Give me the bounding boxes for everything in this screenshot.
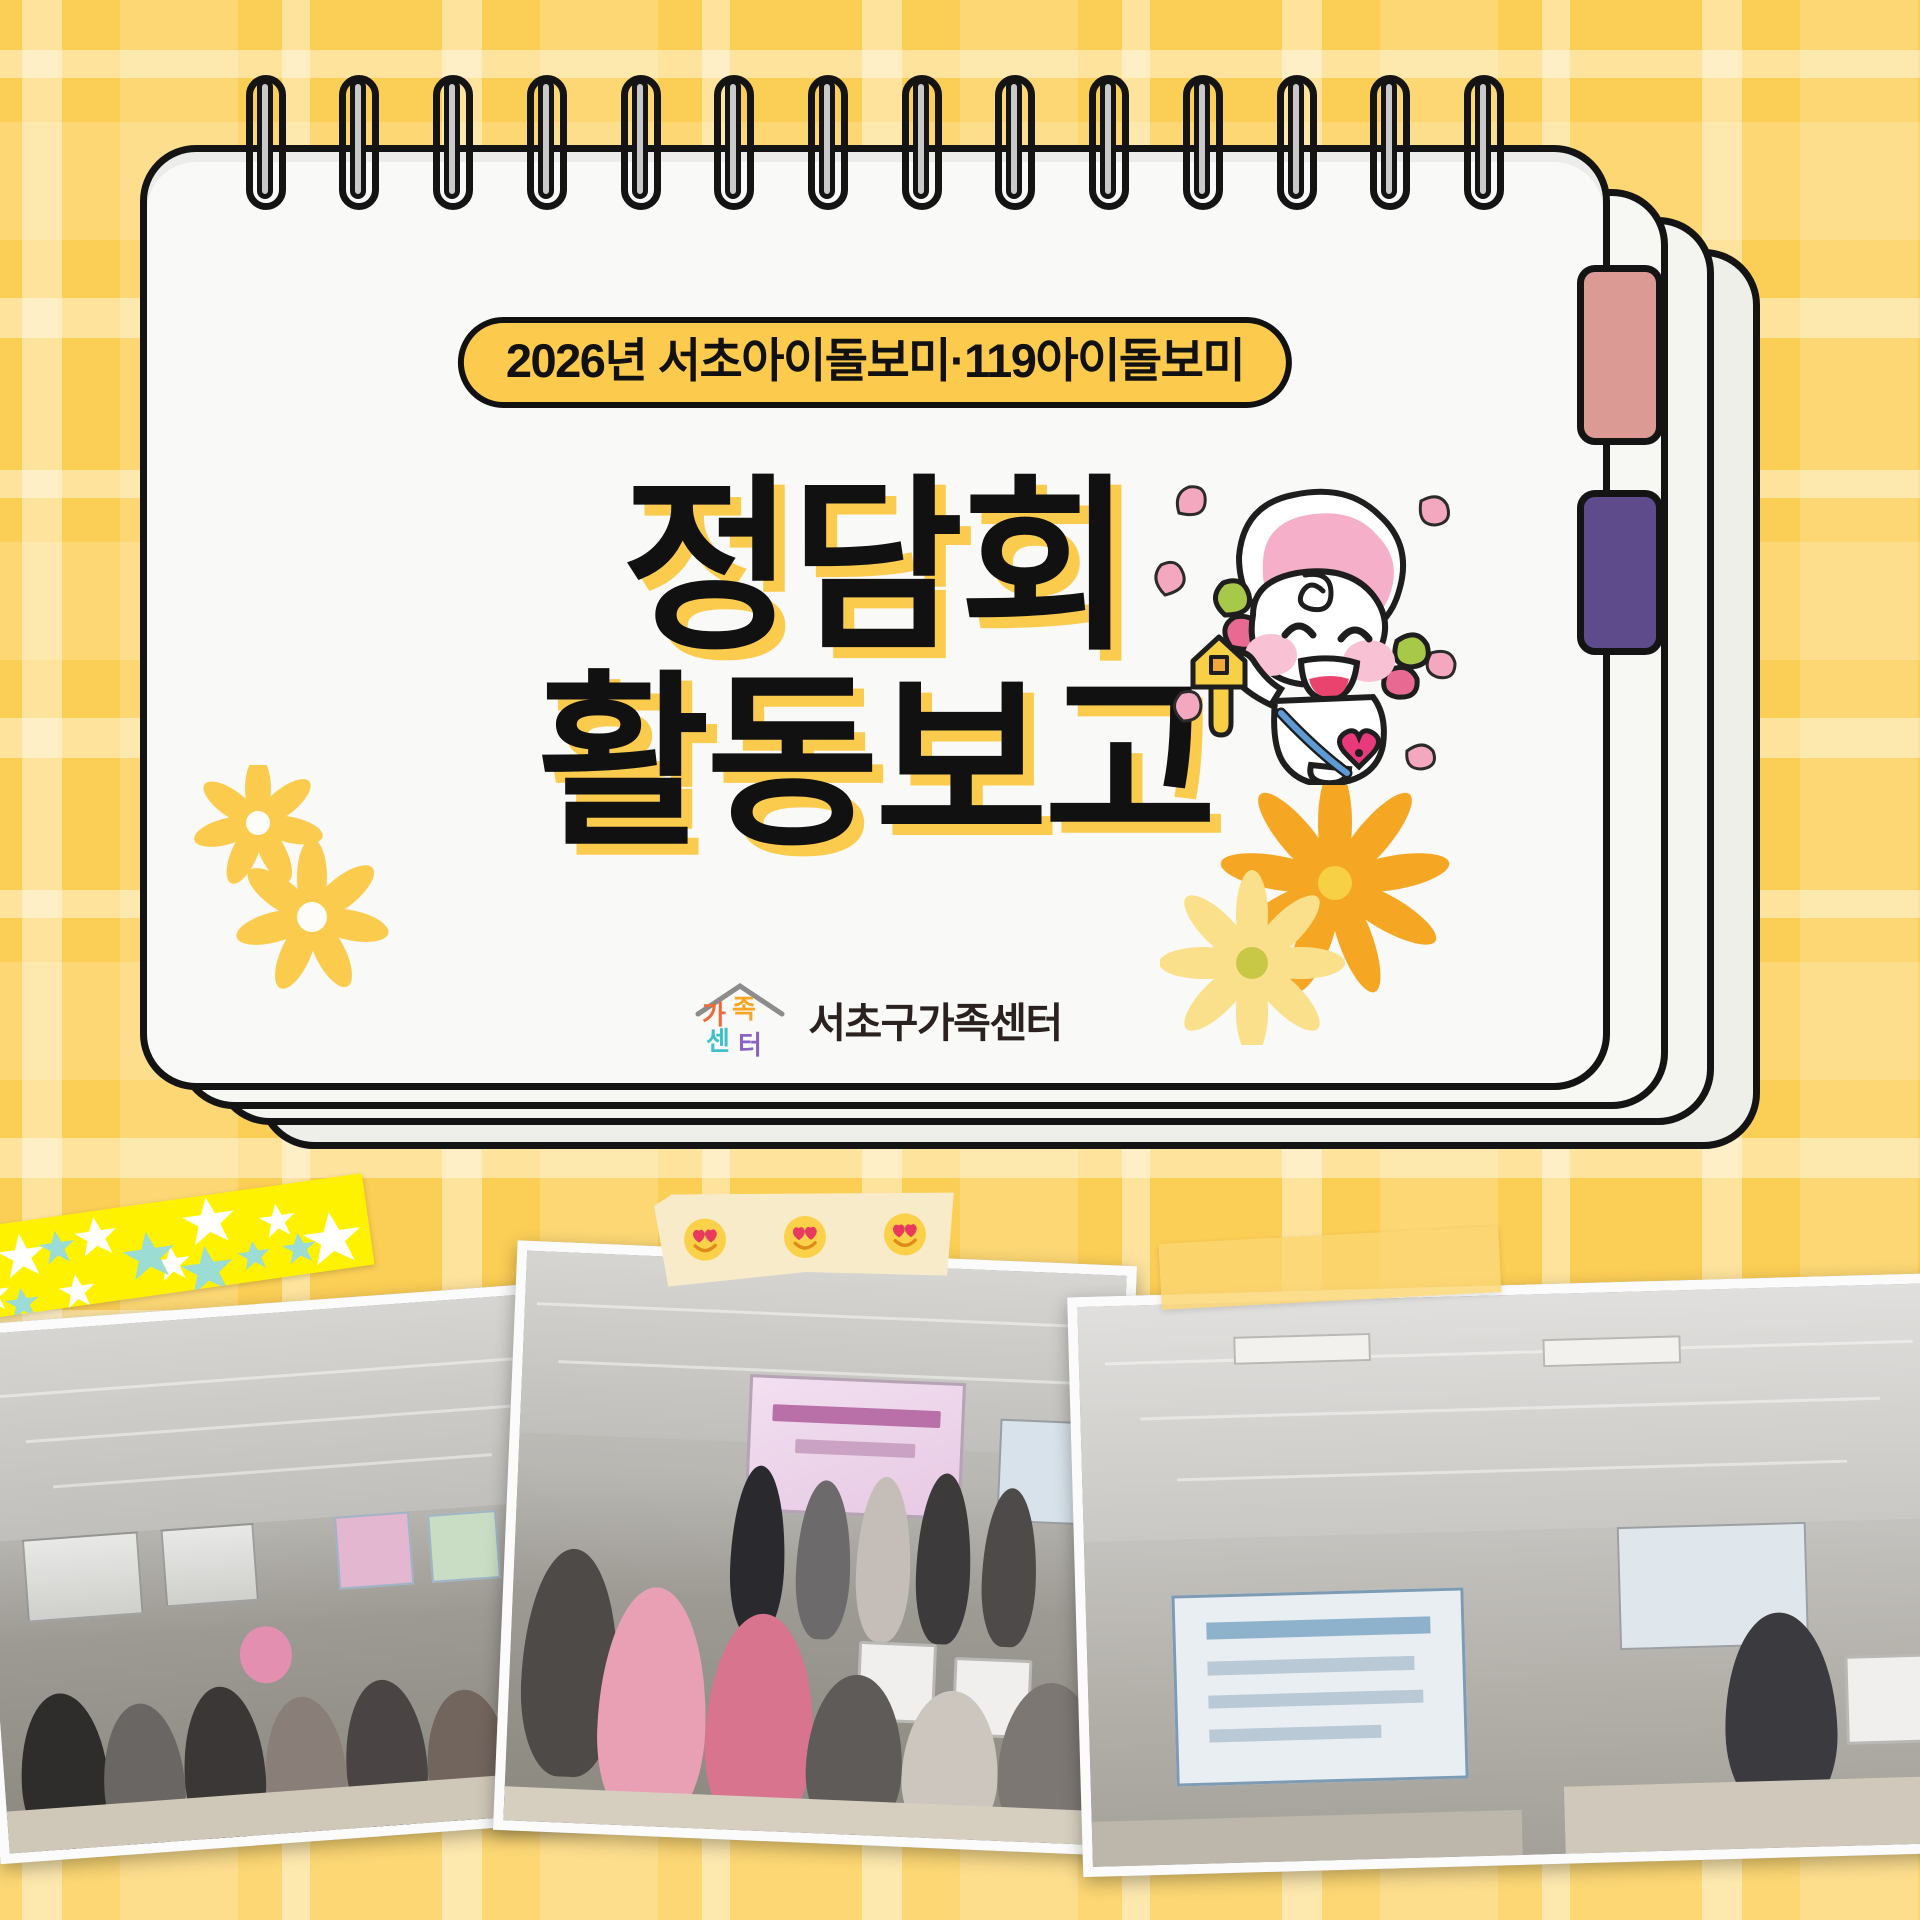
subtitle-badge: 2026년 서초아이돌보미·119아이돌보미 — [458, 317, 1292, 408]
spiral-ring — [527, 75, 567, 225]
svg-text:족: 족 — [732, 995, 756, 1025]
list-item[interactable] — [1067, 1273, 1920, 1877]
list-item[interactable] — [493, 1240, 1137, 1855]
spiral-binding — [140, 75, 1610, 235]
svg-text:터: 터 — [738, 1031, 762, 1058]
notebook-card: 2026년 서초아이돌보미·119아이돌보미 — [140, 145, 1780, 1145]
spiral-ring — [902, 75, 942, 225]
photo-presentation-center — [503, 1251, 1126, 1846]
gajokcenter-logo-icon: 가 족 센 터 — [688, 980, 792, 1058]
svg-text:센: 센 — [706, 1027, 730, 1057]
subtitle-badge-text: 2026년 서초아이돌보미·119아이돌보미 — [506, 334, 1244, 387]
washi-tape-emoji — [654, 1187, 956, 1287]
heart-eyes-emoji-icon — [781, 1213, 828, 1260]
photo-classroom-right — [1077, 1283, 1920, 1867]
mascot-character — [1135, 465, 1465, 785]
spiral-ring — [1277, 75, 1317, 225]
spiral-ring — [246, 75, 286, 225]
spiral-ring — [995, 75, 1035, 225]
spiral-ring — [433, 75, 473, 225]
organization-name: 서초구가족센터 — [808, 989, 1062, 1049]
spiral-ring — [1370, 75, 1410, 225]
spiral-ring — [1464, 75, 1504, 225]
spiral-ring — [621, 75, 661, 225]
washi-tape-stars — [0, 1173, 375, 1318]
photo-strip — [0, 1195, 1920, 1920]
heart-eyes-emoji-icon — [881, 1211, 928, 1258]
heart-eyes-emoji-icon — [681, 1216, 728, 1263]
spiral-ring — [339, 75, 379, 225]
spiral-ring — [1089, 75, 1129, 225]
spiral-ring — [808, 75, 848, 225]
footer-logo: 가 족 센 터 서초구가족센터 — [140, 980, 1610, 1058]
spiral-ring — [714, 75, 754, 225]
spiral-ring — [1183, 75, 1223, 225]
